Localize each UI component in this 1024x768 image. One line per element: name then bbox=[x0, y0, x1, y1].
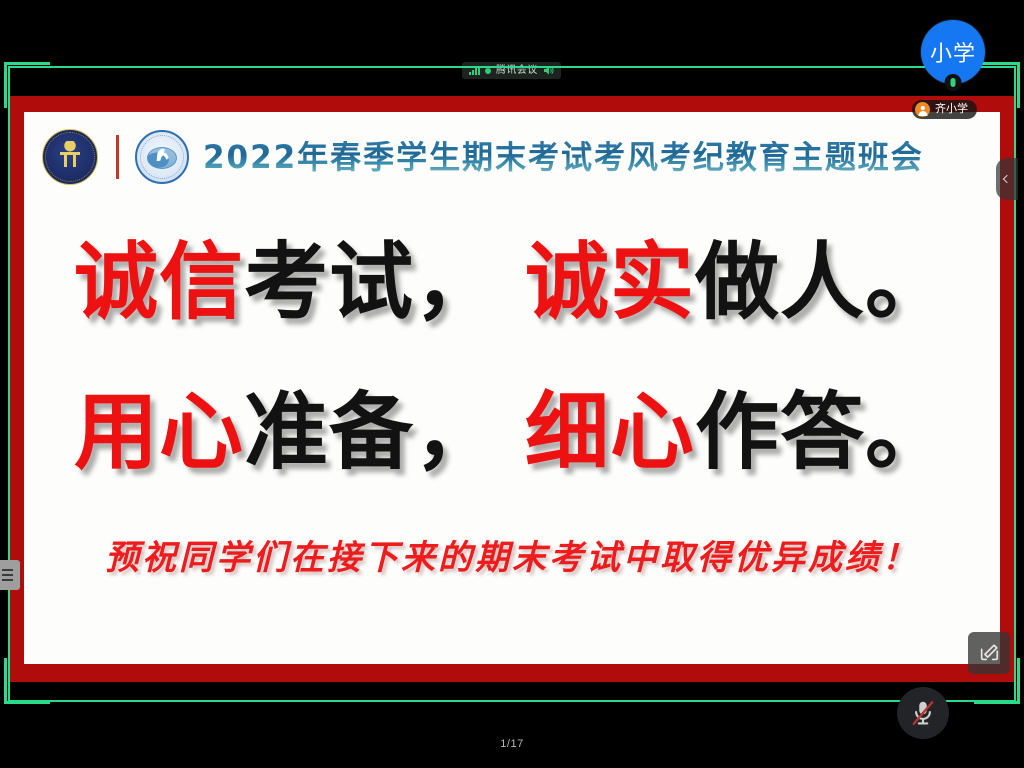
top-status-bar bbox=[0, 0, 1024, 56]
mic-active-icon bbox=[945, 74, 962, 91]
slide-header: 2022年春季学生期末考试考风考纪教育主题班会 bbox=[24, 126, 1000, 188]
meeting-screen-share-view: 腾讯会议 2022年春季学生期末考试考风考纪教育主题班会 bbox=[0, 0, 1024, 768]
self-view-avatar[interactable]: 小学 bbox=[921, 20, 985, 84]
meeting-status-pill[interactable]: 腾讯会议 bbox=[462, 62, 561, 79]
mic-muted-icon bbox=[908, 698, 938, 728]
slogan-2-red-b: 细心 bbox=[525, 382, 695, 481]
chevron-left-icon bbox=[1002, 175, 1010, 183]
annotate-button[interactable] bbox=[968, 632, 1010, 674]
slogan-2-black-a: 准备， bbox=[244, 382, 499, 481]
slogan-1-black-a: 考试， bbox=[244, 232, 499, 331]
person-icon bbox=[915, 102, 930, 117]
logo-divider bbox=[116, 135, 119, 179]
slogan-line-1: 诚信考试，诚实做人。 bbox=[24, 240, 1000, 324]
share-frame-top bbox=[8, 66, 1016, 68]
slogan-line-2: 用心准备，细心作答。 bbox=[24, 390, 1000, 474]
participants-list-tab[interactable] bbox=[0, 560, 20, 590]
slide-wish-text: 预祝同学们在接下来的期末考试中取得优异成绩！ bbox=[24, 530, 1000, 579]
share-corner-bracket-icon-top-left bbox=[4, 62, 50, 108]
slide-title: 2022年春季学生期末考试考风考纪教育主题班会 bbox=[203, 141, 976, 173]
slogan-2-black-b: 作答。 bbox=[695, 382, 950, 481]
anhui-normal-university-logo bbox=[42, 129, 98, 185]
green-dot-icon bbox=[485, 68, 491, 74]
list-icon bbox=[2, 569, 13, 581]
microphone-toggle-button[interactable] bbox=[897, 687, 949, 739]
slogan-2-red-a: 用心 bbox=[74, 382, 244, 481]
collapse-panel-button[interactable] bbox=[996, 158, 1018, 200]
slogan-1-black-b: 做人。 bbox=[695, 232, 950, 331]
partner-institute-logo bbox=[135, 130, 189, 184]
page-indicator: 1/17 bbox=[0, 738, 1024, 750]
pen-annotate-icon bbox=[978, 642, 1000, 664]
share-frame-bottom bbox=[8, 700, 1016, 702]
shared-slide: 2022年春季学生期末考试考风考纪教育主题班会 诚信考试，诚实做人。 用心准备，… bbox=[10, 96, 1014, 682]
slogan-1-red-a: 诚信 bbox=[74, 232, 244, 331]
slide-canvas: 2022年春季学生期末考试考风考纪教育主题班会 诚信考试，诚实做人。 用心准备，… bbox=[24, 112, 1000, 664]
slogan-1-red-b: 诚实 bbox=[525, 232, 695, 331]
participant-name: 齐小学 bbox=[935, 104, 968, 115]
share-corner-bracket-icon-bottom-left bbox=[4, 658, 50, 704]
status-badge: 齐小学 bbox=[912, 100, 977, 119]
